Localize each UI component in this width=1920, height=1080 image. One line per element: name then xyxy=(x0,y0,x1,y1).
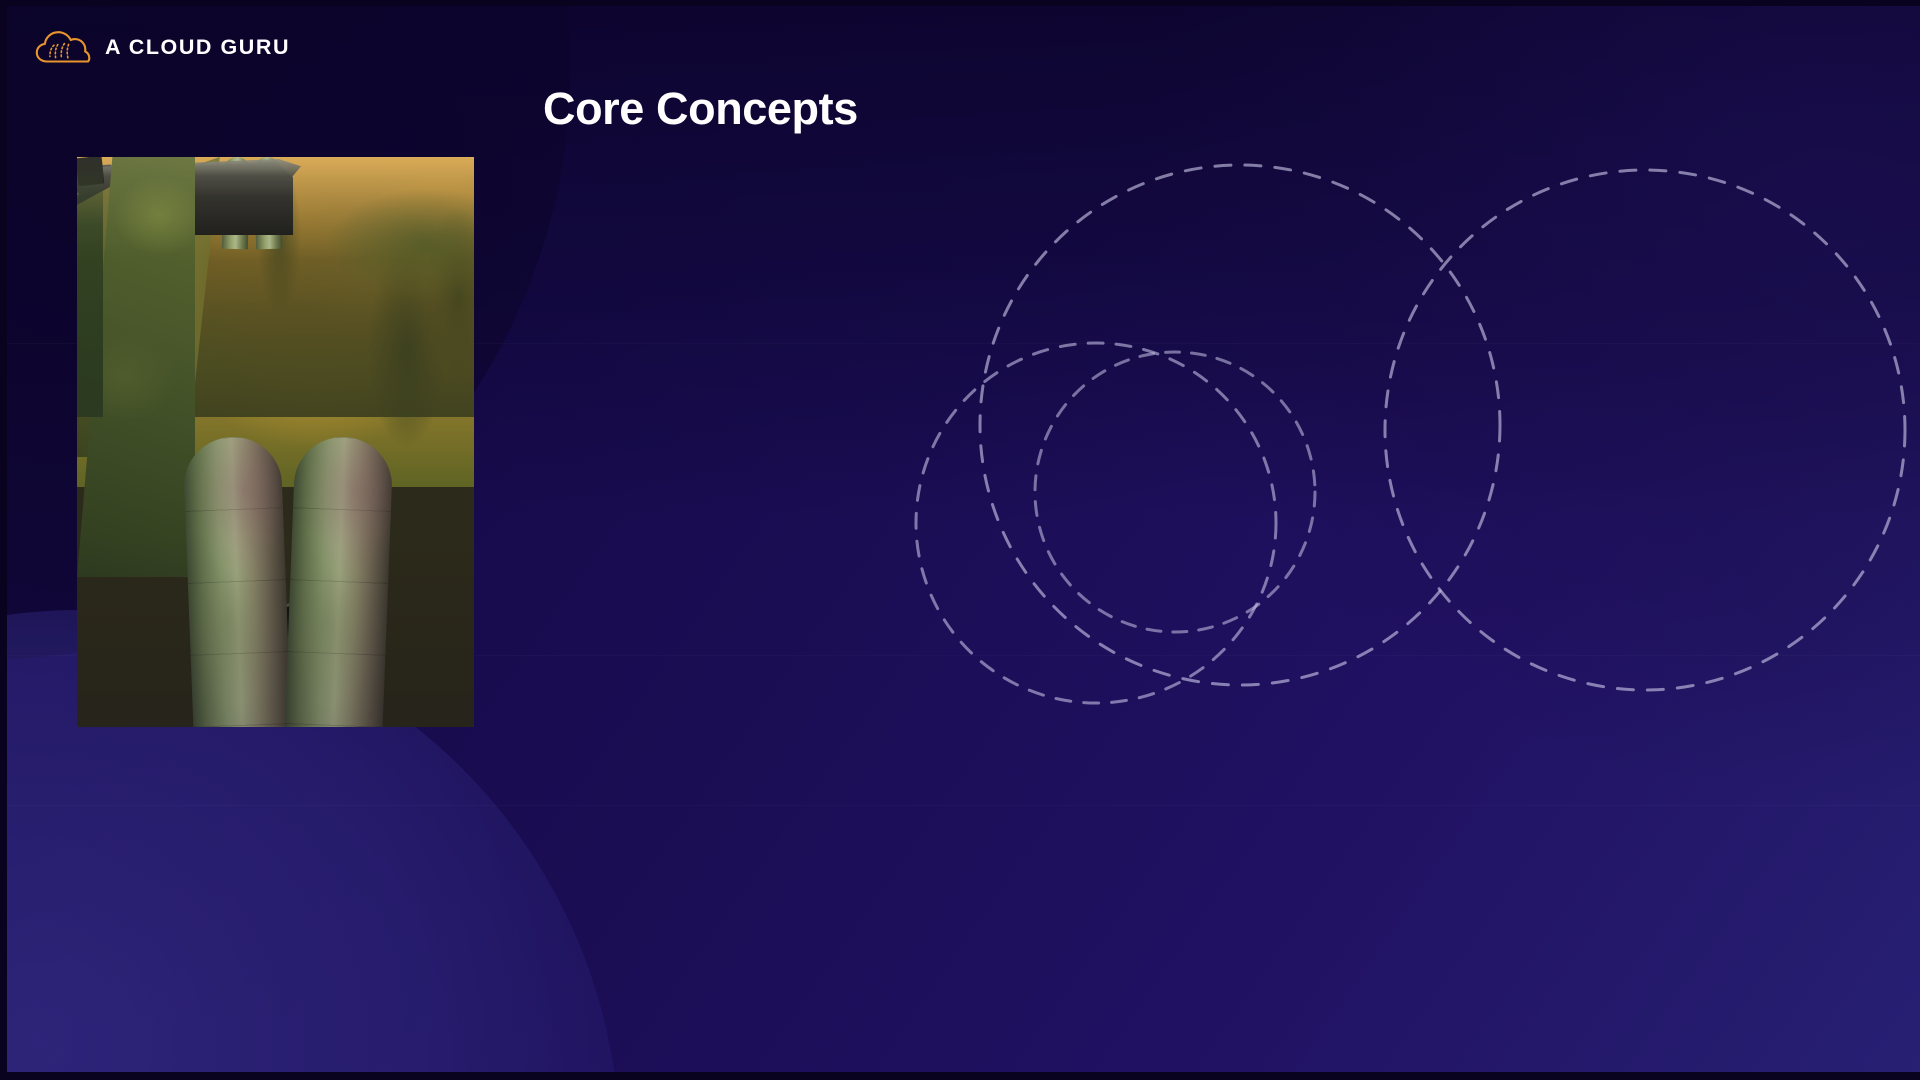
brand-logo-lockup: A CLOUD GURU xyxy=(35,27,290,69)
slide-title: Core Concepts xyxy=(543,82,858,135)
photo-color-grade xyxy=(77,157,474,727)
cloud-icon xyxy=(35,27,91,69)
slide-content-region xyxy=(543,180,1843,880)
pipeline-photo xyxy=(77,157,474,727)
brand-name: A CLOUD GURU xyxy=(105,37,290,59)
slide-canvas: A CLOUD GURU Core Concepts xyxy=(0,0,1920,1080)
